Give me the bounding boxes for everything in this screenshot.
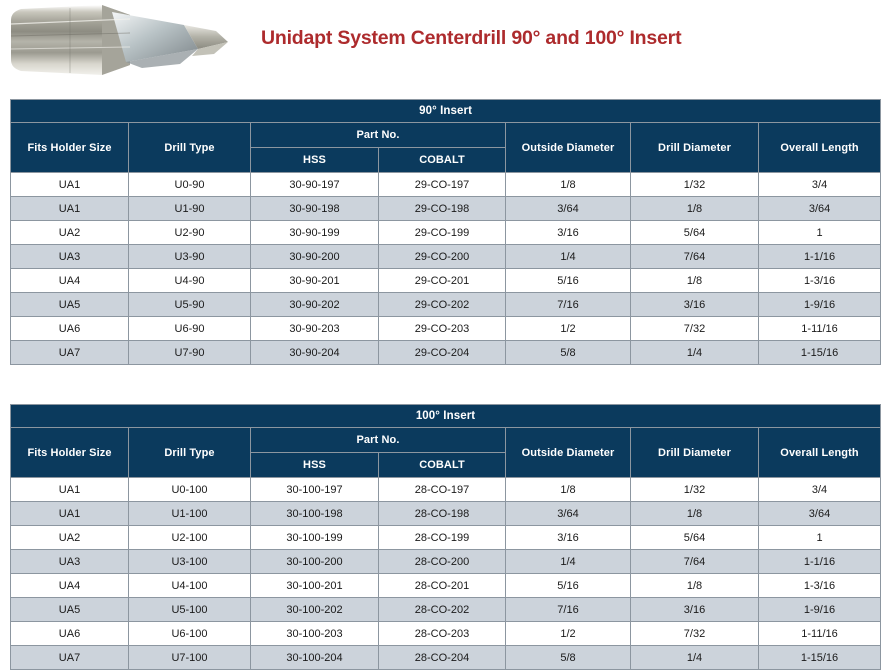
col-drill-type: Drill Type xyxy=(129,428,251,478)
col-cobalt: COBALT xyxy=(379,148,506,173)
cell-fits-holder-size: UA2 xyxy=(11,526,129,550)
cell-overall-length: 1-1/16 xyxy=(759,245,881,269)
cell-drill-diameter: 7/64 xyxy=(631,245,759,269)
cell-cobalt: 28-CO-203 xyxy=(379,622,506,646)
cell-overall-length: 3/4 xyxy=(759,478,881,502)
cell-cobalt: 29-CO-202 xyxy=(379,293,506,317)
cell-overall-length: 1-3/16 xyxy=(759,269,881,293)
col-cobalt: COBALT xyxy=(379,453,506,478)
col-drill-type: Drill Type xyxy=(129,123,251,173)
cell-drill-diameter: 1/8 xyxy=(631,502,759,526)
cell-overall-length: 1-1/16 xyxy=(759,550,881,574)
cell-outside-diameter: 1/4 xyxy=(506,550,631,574)
cell-fits-holder-size: UA5 xyxy=(11,293,129,317)
cell-drill-diameter: 1/8 xyxy=(631,574,759,598)
cell-drill-diameter: 1/4 xyxy=(631,341,759,365)
cell-overall-length: 3/4 xyxy=(759,173,881,197)
cell-cobalt: 28-CO-204 xyxy=(379,646,506,670)
cell-outside-diameter: 1/2 xyxy=(506,622,631,646)
centerdrill-insert-photo xyxy=(2,2,237,78)
cell-drill-type: U4-90 xyxy=(129,269,251,293)
cell-hss: 30-100-199 xyxy=(251,526,379,550)
cell-fits-holder-size: UA2 xyxy=(11,221,129,245)
cell-hss: 30-100-200 xyxy=(251,550,379,574)
cell-drill-diameter: 1/32 xyxy=(631,173,759,197)
cell-drill-type: U3-100 xyxy=(129,550,251,574)
cell-fits-holder-size: UA1 xyxy=(11,197,129,221)
cell-overall-length: 1-15/16 xyxy=(759,646,881,670)
cell-cobalt: 28-CO-200 xyxy=(379,550,506,574)
cell-hss: 30-100-203 xyxy=(251,622,379,646)
cell-drill-type: U2-100 xyxy=(129,526,251,550)
table-row: UA5U5-9030-90-20229-CO-2027/163/161-9/16 xyxy=(11,293,881,317)
cell-hss: 30-100-202 xyxy=(251,598,379,622)
cell-drill-type: U6-90 xyxy=(129,317,251,341)
cell-cobalt: 28-CO-197 xyxy=(379,478,506,502)
cell-hss: 30-90-198 xyxy=(251,197,379,221)
cell-fits-holder-size: UA4 xyxy=(11,574,129,598)
cell-hss: 30-90-203 xyxy=(251,317,379,341)
cell-overall-length: 1-15/16 xyxy=(759,341,881,365)
table-row: UA6U6-10030-100-20328-CO-2031/27/321-11/… xyxy=(11,622,881,646)
table-row: UA1U1-9030-90-19829-CO-1983/641/83/64 xyxy=(11,197,881,221)
catalog-page: Unidapt System Centerdrill 90° and 100° … xyxy=(0,0,890,671)
col-fits-holder-size: Fits Holder Size xyxy=(11,123,129,173)
cell-outside-diameter: 5/16 xyxy=(506,269,631,293)
spec-table-100: 100° Insert Fits Holder Size Drill Type … xyxy=(10,404,881,670)
col-drill-diameter: Drill Diameter xyxy=(631,123,759,173)
cell-cobalt: 28-CO-199 xyxy=(379,526,506,550)
cell-drill-diameter: 1/8 xyxy=(631,197,759,221)
cell-drill-type: U6-100 xyxy=(129,622,251,646)
cell-outside-diameter: 1/8 xyxy=(506,478,631,502)
spec-table-100-body: UA1U0-10030-100-19728-CO-1971/81/323/4UA… xyxy=(11,478,881,670)
cell-fits-holder-size: UA4 xyxy=(11,269,129,293)
cell-drill-diameter: 5/64 xyxy=(631,221,759,245)
col-part-no: Part No. xyxy=(251,123,506,148)
table-row: UA4U4-10030-100-20128-CO-2015/161/81-3/1… xyxy=(11,574,881,598)
cell-outside-diameter: 1/8 xyxy=(506,173,631,197)
cell-cobalt: 29-CO-204 xyxy=(379,341,506,365)
page-title: Unidapt System Centerdrill 90° and 100° … xyxy=(261,27,681,50)
cell-fits-holder-size: UA3 xyxy=(11,550,129,574)
table-row: UA5U5-10030-100-20228-CO-2027/163/161-9/… xyxy=(11,598,881,622)
cell-drill-diameter: 5/64 xyxy=(631,526,759,550)
cell-overall-length: 1-11/16 xyxy=(759,622,881,646)
cell-hss: 30-90-200 xyxy=(251,245,379,269)
cell-cobalt: 29-CO-200 xyxy=(379,245,506,269)
cell-fits-holder-size: UA3 xyxy=(11,245,129,269)
cell-drill-type: U0-100 xyxy=(129,478,251,502)
cell-outside-diameter: 3/64 xyxy=(506,502,631,526)
cell-outside-diameter: 3/16 xyxy=(506,221,631,245)
cell-cobalt: 29-CO-203 xyxy=(379,317,506,341)
cell-outside-diameter: 5/16 xyxy=(506,574,631,598)
cell-drill-diameter: 3/16 xyxy=(631,293,759,317)
cell-hss: 30-90-204 xyxy=(251,341,379,365)
col-part-no: Part No. xyxy=(251,428,506,453)
cell-fits-holder-size: UA6 xyxy=(11,622,129,646)
cell-drill-type: U7-90 xyxy=(129,341,251,365)
banner-100-insert: 100° Insert xyxy=(11,405,881,428)
cell-drill-diameter: 7/32 xyxy=(631,622,759,646)
table-banner-row: 100° Insert xyxy=(11,405,881,428)
table-row: UA6U6-9030-90-20329-CO-2031/27/321-11/16 xyxy=(11,317,881,341)
cell-hss: 30-100-201 xyxy=(251,574,379,598)
cell-overall-length: 1-9/16 xyxy=(759,598,881,622)
cell-cobalt: 29-CO-197 xyxy=(379,173,506,197)
cell-drill-type: U5-90 xyxy=(129,293,251,317)
cell-drill-type: U0-90 xyxy=(129,173,251,197)
cell-outside-diameter: 3/64 xyxy=(506,197,631,221)
cell-overall-length: 1-3/16 xyxy=(759,574,881,598)
cell-drill-diameter: 7/32 xyxy=(631,317,759,341)
cell-drill-type: U1-90 xyxy=(129,197,251,221)
cell-overall-length: 1 xyxy=(759,221,881,245)
table-row: UA1U0-10030-100-19728-CO-1971/81/323/4 xyxy=(11,478,881,502)
cell-drill-diameter: 1/32 xyxy=(631,478,759,502)
cell-outside-diameter: 1/2 xyxy=(506,317,631,341)
cell-fits-holder-size: UA1 xyxy=(11,173,129,197)
cell-fits-holder-size: UA7 xyxy=(11,646,129,670)
cell-outside-diameter: 7/16 xyxy=(506,293,631,317)
cell-drill-diameter: 7/64 xyxy=(631,550,759,574)
table-header-row-upper: Fits Holder Size Drill Type Part No. Out… xyxy=(11,123,881,148)
cell-hss: 30-90-197 xyxy=(251,173,379,197)
cell-hss: 30-90-202 xyxy=(251,293,379,317)
cell-drill-diameter: 1/8 xyxy=(631,269,759,293)
col-overall-length: Overall Length xyxy=(759,123,881,173)
cell-overall-length: 1-11/16 xyxy=(759,317,881,341)
cell-fits-holder-size: UA1 xyxy=(11,478,129,502)
table-row: UA2U2-10030-100-19928-CO-1993/165/641 xyxy=(11,526,881,550)
table-row: UA1U0-9030-90-19729-CO-1971/81/323/4 xyxy=(11,173,881,197)
table-row: UA4U4-9030-90-20129-CO-2015/161/81-3/16 xyxy=(11,269,881,293)
cell-outside-diameter: 5/8 xyxy=(506,646,631,670)
cell-fits-holder-size: UA5 xyxy=(11,598,129,622)
cell-outside-diameter: 1/4 xyxy=(506,245,631,269)
cell-overall-length: 3/64 xyxy=(759,197,881,221)
cell-cobalt: 28-CO-201 xyxy=(379,574,506,598)
table-row: UA3U3-9030-90-20029-CO-2001/47/641-1/16 xyxy=(11,245,881,269)
spec-table-90: 90° Insert Fits Holder Size Drill Type P… xyxy=(10,99,881,365)
spec-table-90-body: UA1U0-9030-90-19729-CO-1971/81/323/4UA1U… xyxy=(11,173,881,365)
cell-fits-holder-size: UA7 xyxy=(11,341,129,365)
cell-cobalt: 29-CO-201 xyxy=(379,269,506,293)
cell-drill-type: U3-90 xyxy=(129,245,251,269)
table-row: UA7U7-10030-100-20428-CO-2045/81/41-15/1… xyxy=(11,646,881,670)
cell-drill-diameter: 1/4 xyxy=(631,646,759,670)
col-overall-length: Overall Length xyxy=(759,428,881,478)
col-outside-diameter: Outside Diameter xyxy=(506,428,631,478)
cell-cobalt: 29-CO-198 xyxy=(379,197,506,221)
cell-outside-diameter: 5/8 xyxy=(506,341,631,365)
col-outside-diameter: Outside Diameter xyxy=(506,123,631,173)
table-row: UA2U2-9030-90-19929-CO-1993/165/641 xyxy=(11,221,881,245)
col-hss: HSS xyxy=(251,453,379,478)
cell-drill-type: U4-100 xyxy=(129,574,251,598)
cell-overall-length: 1-9/16 xyxy=(759,293,881,317)
cell-drill-type: U2-90 xyxy=(129,221,251,245)
cell-outside-diameter: 7/16 xyxy=(506,598,631,622)
table-header-row-upper: Fits Holder Size Drill Type Part No. Out… xyxy=(11,428,881,453)
cell-drill-type: U5-100 xyxy=(129,598,251,622)
col-hss: HSS xyxy=(251,148,379,173)
col-drill-diameter: Drill Diameter xyxy=(631,428,759,478)
cell-cobalt: 28-CO-198 xyxy=(379,502,506,526)
cell-hss: 30-90-201 xyxy=(251,269,379,293)
cell-cobalt: 29-CO-199 xyxy=(379,221,506,245)
cell-fits-holder-size: UA1 xyxy=(11,502,129,526)
cell-drill-type: U7-100 xyxy=(129,646,251,670)
cell-hss: 30-100-197 xyxy=(251,478,379,502)
cell-drill-type: U1-100 xyxy=(129,502,251,526)
table-banner-row: 90° Insert xyxy=(11,100,881,123)
banner-90-insert: 90° Insert xyxy=(11,100,881,123)
cell-hss: 30-100-204 xyxy=(251,646,379,670)
page-header: Unidapt System Centerdrill 90° and 100° … xyxy=(0,0,890,90)
cell-outside-diameter: 3/16 xyxy=(506,526,631,550)
col-fits-holder-size: Fits Holder Size xyxy=(11,428,129,478)
table-row: UA7U7-9030-90-20429-CO-2045/81/41-15/16 xyxy=(11,341,881,365)
cell-hss: 30-100-198 xyxy=(251,502,379,526)
table-row: UA3U3-10030-100-20028-CO-2001/47/641-1/1… xyxy=(11,550,881,574)
cell-drill-diameter: 3/16 xyxy=(631,598,759,622)
cell-overall-length: 1 xyxy=(759,526,881,550)
cell-cobalt: 28-CO-202 xyxy=(379,598,506,622)
cell-overall-length: 3/64 xyxy=(759,502,881,526)
cell-fits-holder-size: UA6 xyxy=(11,317,129,341)
table-row: UA1U1-10030-100-19828-CO-1983/641/83/64 xyxy=(11,502,881,526)
cell-hss: 30-90-199 xyxy=(251,221,379,245)
